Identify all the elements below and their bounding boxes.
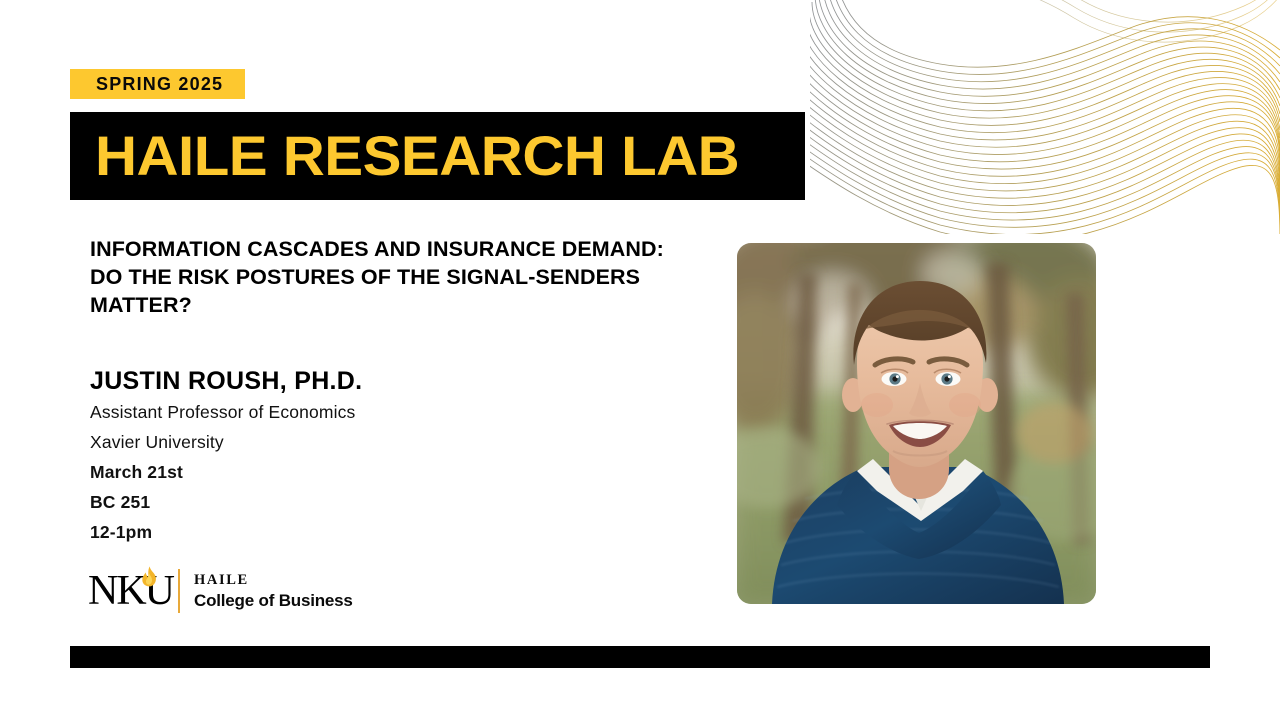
event-date: March 21st [90, 457, 690, 487]
season-badge: SPRING 2025 [70, 69, 245, 99]
speaker-title: Assistant Professor of Economics [90, 397, 690, 427]
logo-divider [178, 569, 180, 613]
speaker-block: JUSTIN ROUSH, PH.D. Assistant Professor … [90, 366, 690, 548]
nku-haile-logo: NKU HAILE College of Business [88, 565, 353, 617]
series-title-text: HAILE RESEARCH LAB [70, 128, 739, 184]
speaker-name: JUSTIN ROUSH, PH.D. [90, 366, 690, 397]
bottom-rule [70, 646, 1210, 668]
decorative-wavy-lines [810, 0, 1280, 234]
nku-wordmark: NKU [88, 568, 170, 614]
flame-icon [140, 566, 158, 592]
speaker-headshot [737, 243, 1096, 604]
event-time: 12-1pm [90, 517, 690, 547]
nku-letters: NKU [88, 568, 173, 614]
talk-info-block: INFORMATION CASCADES AND INSURANCE DEMAN… [90, 236, 690, 548]
event-room: BC 251 [90, 487, 690, 517]
speaker-affiliation: Xavier University [90, 427, 690, 457]
series-title-banner: HAILE RESEARCH LAB [70, 112, 805, 200]
poster-canvas: SPRING 2025 HAILE RESEARCH LAB INFORMATI… [0, 0, 1280, 720]
logo-text-lockup: HAILE College of Business [194, 571, 353, 611]
college-of-business-label: College of Business [194, 590, 353, 611]
haile-label: HAILE [194, 571, 353, 589]
talk-title: INFORMATION CASCADES AND INSURANCE DEMAN… [90, 236, 670, 320]
